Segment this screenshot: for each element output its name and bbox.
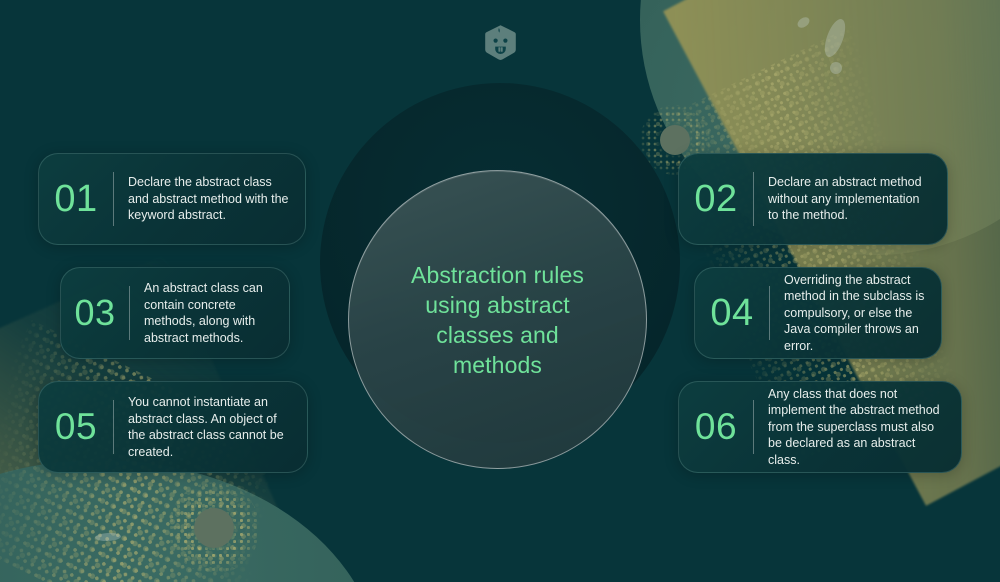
- rule-number: 05: [39, 406, 113, 448]
- dot-circle-core-bottom: [194, 508, 234, 548]
- rule-text: You cannot instantiate an abstract class…: [128, 394, 291, 460]
- rule-card-06[interactable]: 06 Any class that does not implement the…: [678, 381, 962, 473]
- rule-card-01[interactable]: 01 Declare the abstract class and abstra…: [38, 153, 306, 245]
- rule-number: 04: [695, 292, 769, 335]
- card-divider: [129, 286, 130, 340]
- hub-title: Abstraction rules using abstract classes…: [390, 260, 605, 380]
- rule-number: 02: [679, 178, 753, 221]
- card-divider: [113, 172, 114, 226]
- dot-circle-core-top: [660, 125, 690, 155]
- rule-text: An abstract class can contain concrete m…: [144, 280, 273, 346]
- rule-text: Any class that does not implement the ab…: [768, 386, 945, 469]
- card-divider: [113, 400, 114, 454]
- rule-card-04[interactable]: 04 Overriding the abstract method in the…: [694, 267, 942, 359]
- rule-card-02[interactable]: 02 Declare an abstract method without an…: [678, 153, 948, 245]
- rule-text: Overriding the abstract method in the su…: [784, 272, 925, 355]
- rule-number: 01: [39, 178, 113, 221]
- card-divider: [769, 286, 770, 340]
- rule-number: 06: [679, 406, 753, 448]
- rule-card-05[interactable]: 05 You cannot instantiate an abstract cl…: [38, 381, 308, 473]
- card-divider: [753, 172, 754, 226]
- beaver-head-icon: [484, 24, 517, 61]
- infographic-canvas: Abstraction rules using abstract classes…: [0, 0, 1000, 582]
- rule-card-03[interactable]: 03 An abstract class can contain concret…: [60, 267, 290, 359]
- rule-text: Declare the abstract class and abstract …: [128, 174, 289, 224]
- hub-inner-circle: Abstraction rules using abstract classes…: [348, 170, 647, 469]
- rule-number: 03: [61, 292, 129, 334]
- card-divider: [753, 400, 754, 454]
- rule-text: Declare an abstract method without any i…: [768, 174, 931, 224]
